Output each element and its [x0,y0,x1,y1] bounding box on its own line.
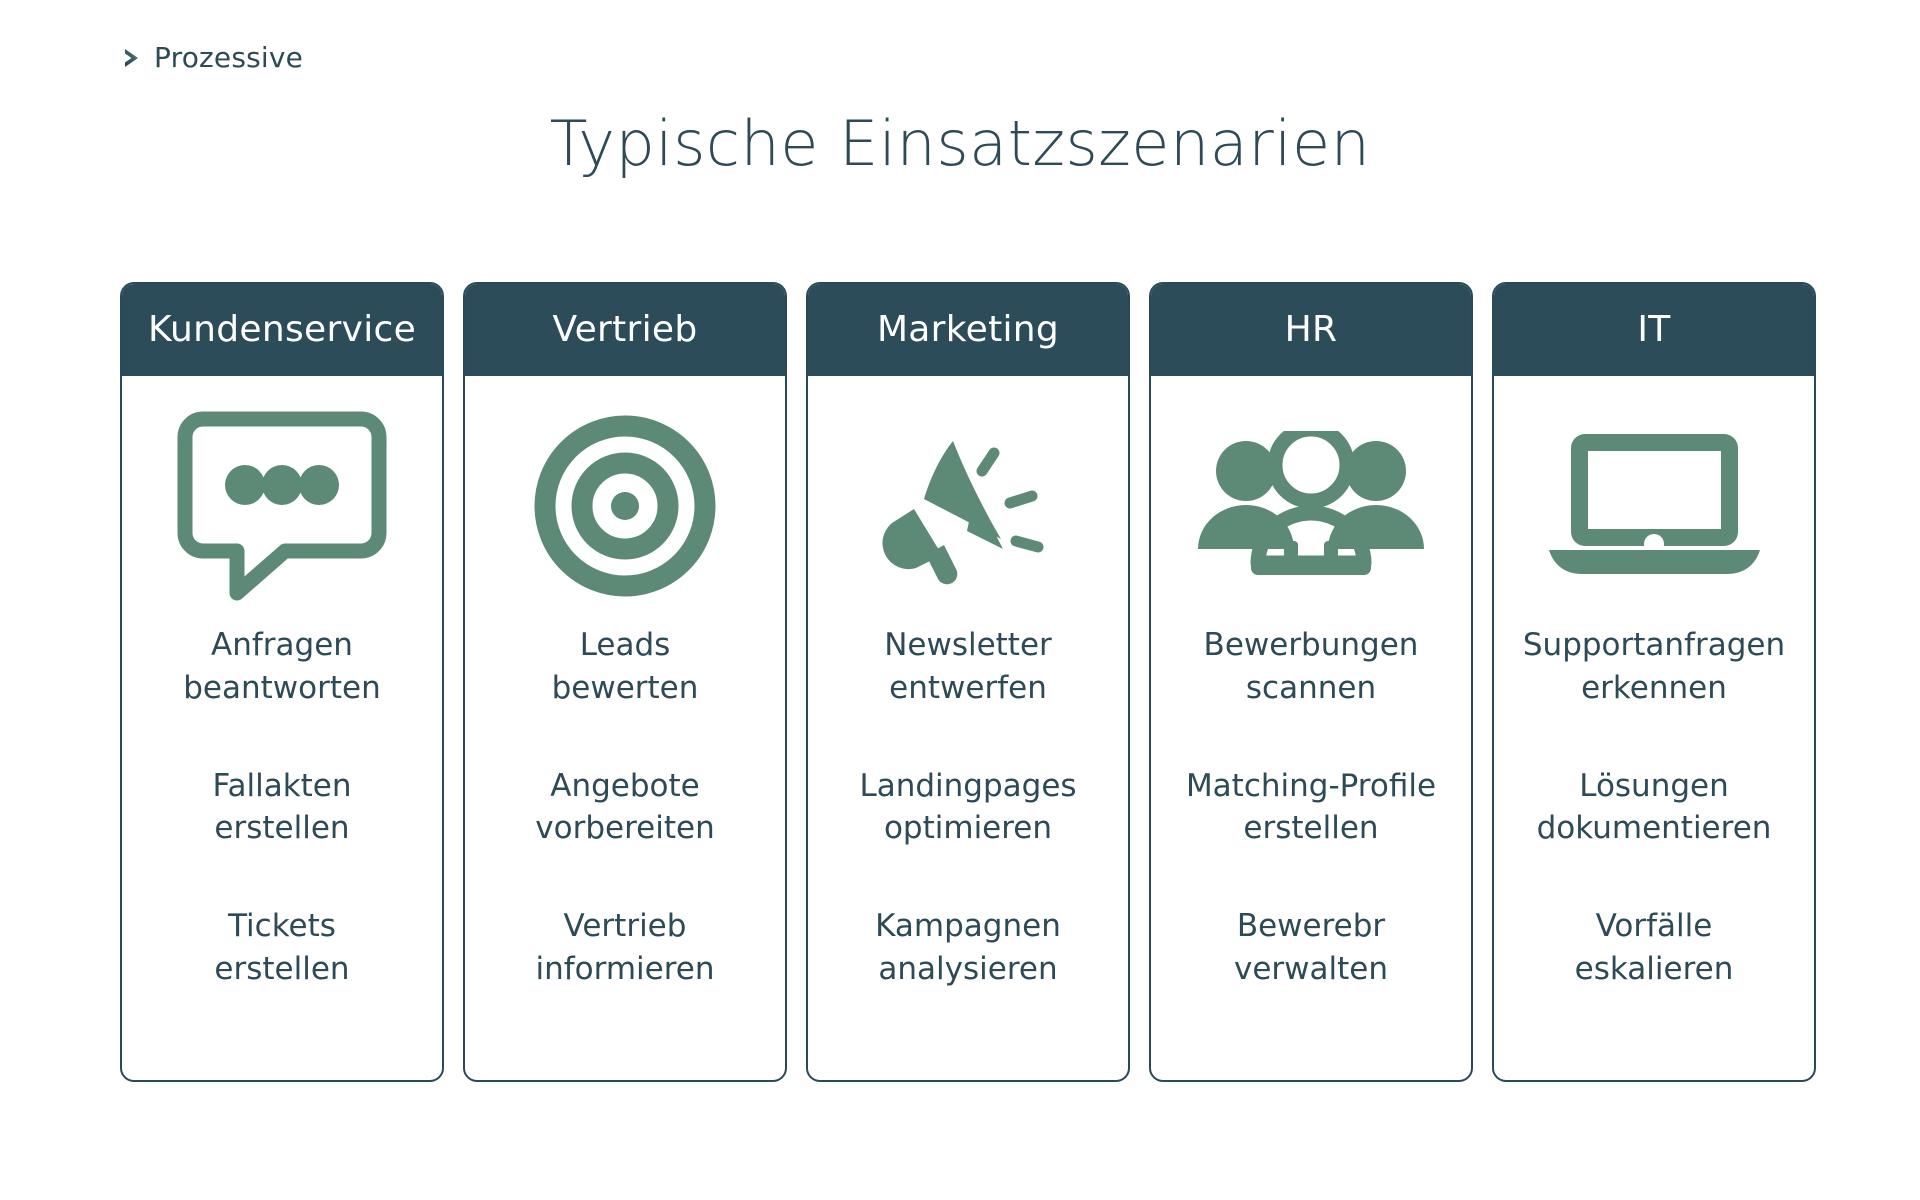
megaphone-icon [868,406,1068,606]
list-item: Vertrieb informieren [479,905,771,991]
chat-bubble-icon [177,406,387,606]
list-item: Vorfälle eskalieren [1508,905,1800,991]
card-body-marketing: Newsletter entwerfen Landingpages optimi… [808,376,1128,1080]
list-item: Supportanfragen erkennen [1508,624,1800,710]
card-items-hr: Bewerbungen scannen Matching-Profile ers… [1151,624,1471,991]
list-item: Tickets erstellen [136,905,428,991]
list-item: Matching-Profile erstellen [1165,765,1457,851]
target-icon [530,406,720,606]
scenario-card-hr[interactable]: HR [1149,282,1473,1082]
laptop-icon [1547,406,1762,606]
scenario-card-marketing[interactable]: Marketing [806,282,1130,1082]
card-title-vertrieb: Vertrieb [465,284,785,376]
card-title-hr: HR [1151,284,1471,376]
list-item: Bewerebr verwalten [1165,905,1457,991]
page-title: Typische Einsatzszenarien [0,110,1920,178]
list-item: Fallakten erstellen [136,765,428,851]
people-group-icon [1196,406,1426,606]
scenario-card-it[interactable]: IT Supportanfragen erkennen Lösungen d [1492,282,1816,1082]
list-item: Leads bewerten [479,624,771,710]
card-body-vertrieb: Leads bewerten Angebote vorbereiten Vert… [465,376,785,1080]
brand-logo: Prozessive [118,38,303,78]
card-title-marketing: Marketing [808,284,1128,376]
card-items-it: Supportanfragen erkennen Lösungen dokume… [1494,624,1814,991]
scenario-card-kundenservice[interactable]: Kundenservice Anfragen beantworten Falla… [120,282,444,1082]
list-item: Kampagnen analysieren [822,905,1114,991]
card-items-vertrieb: Leads bewerten Angebote vorbereiten Vert… [465,624,785,991]
scenario-card-vertrieb[interactable]: Vertrieb Leads bewerten Angebote vorbere… [463,282,787,1082]
list-item: Bewerbungen scannen [1165,624,1457,710]
card-title-it: IT [1494,284,1814,376]
list-item: Landingpages optimieren [822,765,1114,851]
card-body-hr: Bewerbungen scannen Matching-Profile ers… [1151,376,1471,1080]
card-items-kundenservice: Anfragen beantworten Fallakten erstellen… [122,624,442,991]
list-item: Lösungen dokumentieren [1508,765,1800,851]
chevron-right-icon [118,43,148,73]
slide-root: Prozessive Typische Einsatzszenarien Kun… [0,0,1920,1200]
scenario-card-row: Kundenservice Anfragen beantworten Falla… [120,282,1830,1082]
card-title-kundenservice: Kundenservice [122,284,442,376]
list-item: Anfragen beantworten [136,624,428,710]
card-body-it: Supportanfragen erkennen Lösungen dokume… [1494,376,1814,1080]
card-body-kundenservice: Anfragen beantworten Fallakten erstellen… [122,376,442,1080]
list-item: Newsletter entwerfen [822,624,1114,710]
list-item: Angebote vorbereiten [479,765,771,851]
card-items-marketing: Newsletter entwerfen Landingpages optimi… [808,624,1128,991]
brand-name: Prozessive [154,44,303,72]
